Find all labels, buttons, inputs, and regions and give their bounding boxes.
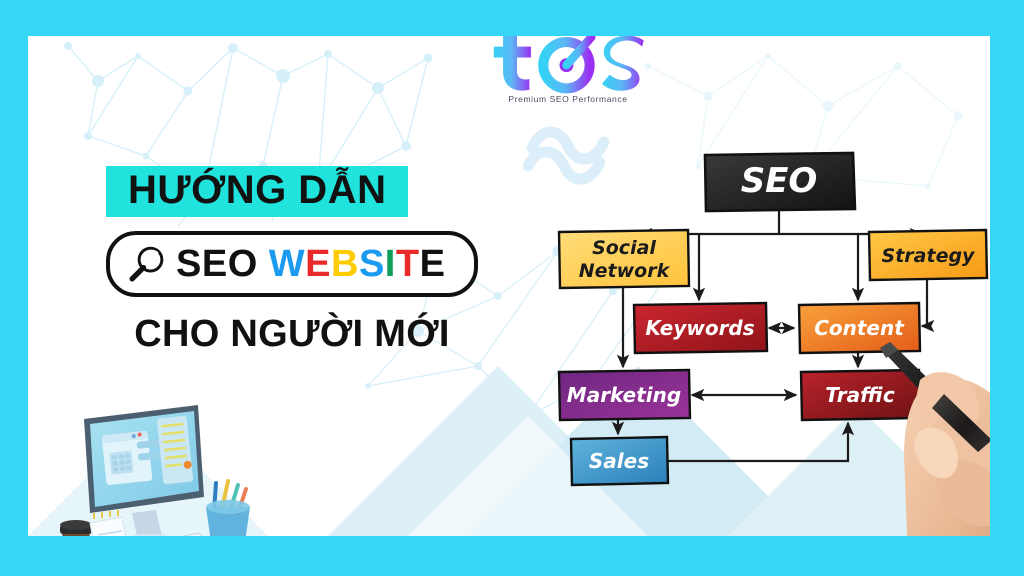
diagram-node-social-network[interactable]: Social Network: [559, 230, 689, 288]
seo-word-part-0: SEO: [176, 243, 258, 285]
diagram-node-label-keywords: Keywords: [645, 316, 754, 340]
headline-line2: SEOWEBSITE: [176, 245, 445, 283]
headline-block: HƯỚNG DẪN SEOWEBSITE CHO NGƯỜI MỚI: [106, 166, 506, 356]
headline-line1: HƯỚNG DẪN: [106, 166, 408, 217]
diagram-node-label-sales: Sales: [589, 449, 649, 473]
diagram-node-label-seo: SEO: [741, 161, 818, 201]
tos-logo: Premium SEO Performance: [468, 36, 668, 140]
diagram-node-marketing[interactable]: Marketing: [559, 370, 690, 420]
seo-word-part-4: S: [359, 243, 385, 285]
diagram-node-keywords[interactable]: Keywords: [634, 303, 767, 353]
seo-website-search-box[interactable]: SEOWEBSITE: [106, 231, 478, 297]
poster-canvas: Premium SEO Performance HƯỚNG DẪN SEOWEB…: [0, 0, 1024, 576]
desk-workspace-illustration: [46, 391, 266, 536]
seo-word-part-6: T: [396, 243, 420, 285]
pen-holder-icon: [206, 481, 250, 536]
white-content-panel: Premium SEO Performance HƯỚNG DẪN SEOWEB…: [28, 36, 990, 536]
diagram-node-label-marketing: Marketing: [567, 383, 681, 407]
magnifier-icon: [126, 243, 168, 285]
diagram-node-label-strategy: Strategy: [882, 245, 977, 267]
diagram-node-label-social-line2: Network: [579, 260, 671, 282]
hand-holding-pen: [874, 336, 990, 536]
diagram-node-strategy[interactable]: Strategy: [869, 230, 987, 280]
diagram-node-label-social-line1: Social: [592, 237, 656, 259]
seo-word-part-1: W: [269, 243, 305, 285]
seo-word-part-7: E: [420, 243, 446, 285]
seo-word-part-5: I: [385, 243, 396, 285]
headline-line3: CHO NGƯỜI MỚI: [106, 313, 478, 356]
diagram-node-sales[interactable]: Sales: [571, 437, 668, 485]
coffee-cup-icon: [60, 520, 92, 536]
seo-word-part-3: B: [331, 243, 359, 285]
seo-word-part-2: E: [305, 243, 331, 285]
tos-logo-mark: [483, 36, 653, 98]
tos-logo-tagline: Premium SEO Performance: [468, 94, 668, 104]
diagram-node-seo[interactable]: SEO: [705, 153, 855, 211]
notepad-icon: [90, 510, 130, 536]
